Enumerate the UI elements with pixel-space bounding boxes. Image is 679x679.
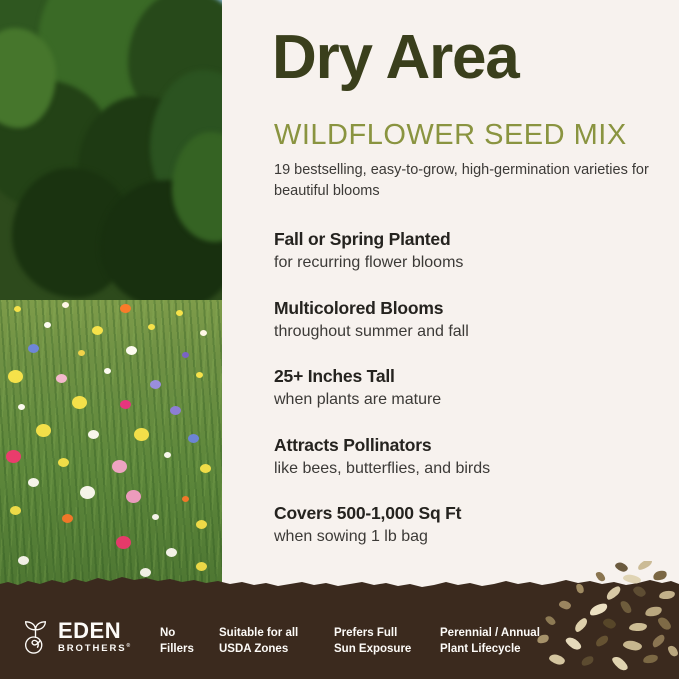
feature-item: Attracts Pollinators like bees, butterfl… [274,434,664,480]
page-title: Dry Area [272,27,519,89]
feature-item: Fall or Spring Planted for recurring flo… [274,228,664,274]
feature-title: 25+ Inches Tall [274,365,664,387]
brand-name-secondary: BROTHERS® [58,644,132,654]
feature-subtitle: when sowing 1 lb bag [274,526,664,548]
feature-title: Covers 500-1,000 Sq Ft [274,502,664,524]
product-infographic: Dry Area WILDFLOWER SEED MIX 19 bestsell… [0,0,679,679]
footer-benefit-usda-zones: Suitable for all USDA Zones [219,626,298,657]
content-panel: Dry Area WILDFLOWER SEED MIX 19 bestsell… [222,0,679,614]
wildflower-meadow-photo [0,0,222,614]
brand-wordmark: EDEN BROTHERS® [58,620,132,654]
feature-subtitle: throughout summer and fall [274,321,664,343]
feature-subtitle: like bees, butterflies, and birds [274,458,664,480]
brand-name-primary: EDEN [58,620,132,642]
feature-title: Multicolored Blooms [274,297,664,319]
footer-benefit-sun-exposure: Prefers Full Sun Exposure [334,626,411,657]
feature-title: Fall or Spring Planted [274,228,664,250]
product-subtitle: WILDFLOWER SEED MIX [274,120,627,150]
feature-item: Covers 500-1,000 Sq Ft when sowing 1 lb … [274,502,664,548]
feature-item: 25+ Inches Tall when plants are mature [274,365,664,411]
feature-list: Fall or Spring Planted for recurring flo… [274,228,664,571]
feature-subtitle: for recurring flower blooms [274,252,664,274]
brand-logo[interactable]: EDEN BROTHERS® [20,620,132,654]
product-description: 19 bestselling, easy-to-grow, high-germi… [274,160,649,202]
feature-item: Multicolored Blooms throughout summer an… [274,297,664,343]
feature-title: Attracts Pollinators [274,434,664,456]
seed-mix-pile [519,561,679,679]
feature-subtitle: when plants are mature [274,389,664,411]
footer-benefit-no-fillers: No Fillers [160,626,194,657]
seedling-sprout-icon [20,620,51,654]
